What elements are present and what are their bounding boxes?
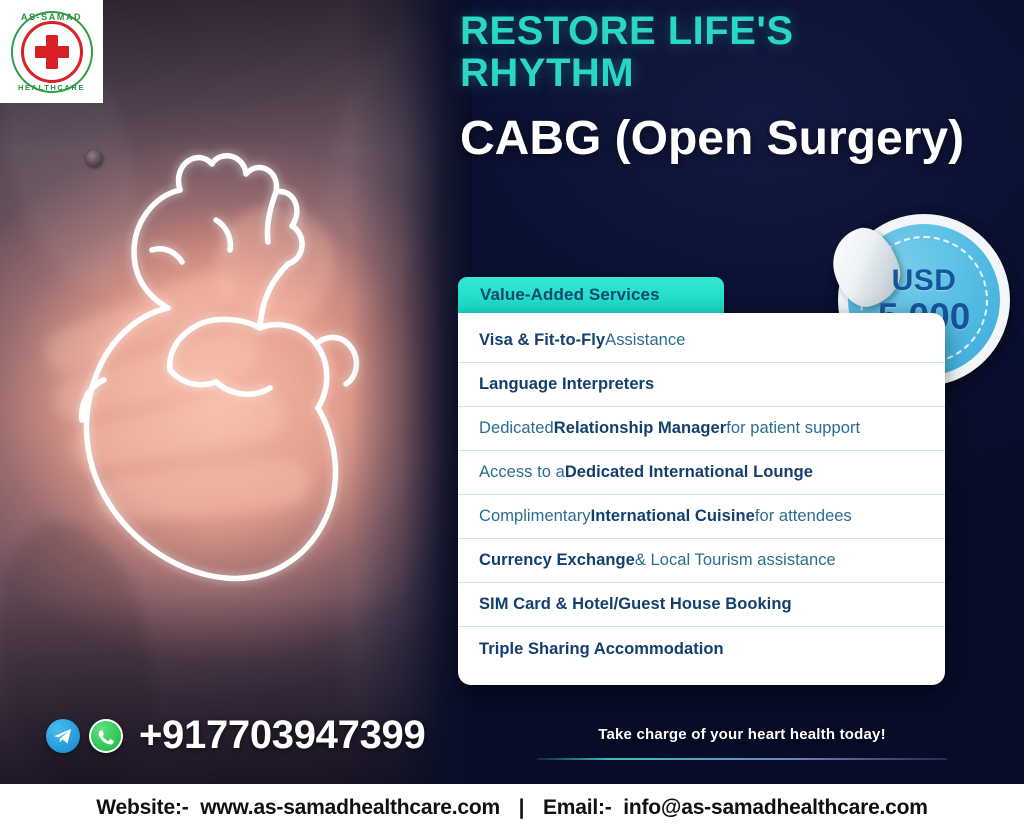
services-list: Visa & Fit-to-Fly AssistanceLanguage Int… <box>458 319 945 671</box>
service-text-emphasis: Dedicated International Lounge <box>565 463 813 482</box>
service-list-item: Currency Exchange & Local Tourism assist… <box>458 539 945 583</box>
footer-separator: | <box>519 796 525 819</box>
service-text-emphasis: Language Interpreters <box>479 375 654 394</box>
phone-number[interactable]: +917703947399 <box>139 713 425 758</box>
service-list-item: Visa & Fit-to-Fly Assistance <box>458 319 945 363</box>
photo-edge-fade <box>350 0 472 784</box>
service-text-emphasis: Relationship Manager <box>554 419 726 438</box>
service-list-item: Dedicated Relationship Manager for patie… <box>458 407 945 451</box>
service-text-lead: Complimentary <box>479 507 591 526</box>
logo-mark: AS-SAMAD HEALTHCARE <box>8 8 96 96</box>
logo-top-text: AS-SAMAD <box>8 12 96 22</box>
hero-photo <box>0 0 472 784</box>
brand-logo: AS-SAMAD HEALTHCARE <box>0 0 103 103</box>
service-text-emphasis: Currency Exchange <box>479 551 635 570</box>
services-card-body: Visa & Fit-to-Fly AssistanceLanguage Int… <box>458 313 945 685</box>
logo-bottom-text: HEALTHCARE <box>8 83 96 92</box>
service-text-emphasis: Visa & Fit-to-Fly <box>479 331 605 350</box>
service-text-emphasis: Triple Sharing Accommodation <box>479 640 724 659</box>
footer-website-label: Website:- <box>96 796 188 819</box>
footer-email-label: Email:- <box>543 796 612 819</box>
headline-kicker-line2: RHYTHM <box>460 52 1020 94</box>
tagline-block: Take charge of your heart health today! <box>537 726 947 760</box>
services-card-title: Value-Added Services <box>480 285 660 305</box>
service-text-tail: for patient support <box>726 419 860 438</box>
service-text-emphasis: SIM Card & Hotel/Guest House Booking <box>479 595 792 614</box>
service-text-lead: Access to a <box>479 463 565 482</box>
footer-text: Website:- www.as-samadhealthcare.com | E… <box>96 796 928 820</box>
service-text-emphasis: International Cuisine <box>591 507 755 526</box>
footer-bar: Website:- www.as-samadhealthcare.com | E… <box>0 784 1024 831</box>
headline-main: CABG (Open Surgery) <box>460 114 1020 164</box>
service-list-item: Access to a Dedicated International Loun… <box>458 451 945 495</box>
service-list-item: Complimentary International Cuisine for … <box>458 495 945 539</box>
whatsapp-icon[interactable] <box>89 719 123 753</box>
services-card-tab: Value-Added Services <box>458 277 724 313</box>
telegram-icon[interactable] <box>46 719 80 753</box>
red-cross-icon-bar <box>35 46 69 58</box>
headline-kicker-line1: RESTORE LIFE'S <box>460 10 1020 52</box>
footer-email[interactable]: info@as-samadhealthcare.com <box>623 796 928 819</box>
headline-block: RESTORE LIFE'S RHYTHM CABG (Open Surgery… <box>460 10 1020 164</box>
tagline-text: Take charge of your heart health today! <box>537 726 947 743</box>
service-text-tail: Assistance <box>605 331 685 350</box>
badge-currency: USD <box>892 266 957 296</box>
service-list-item: Language Interpreters <box>458 363 945 407</box>
footer-website[interactable]: www.as-samadhealthcare.com <box>200 796 500 819</box>
tagline-divider <box>537 758 947 760</box>
service-list-item: Triple Sharing Accommodation <box>458 627 945 671</box>
poster-canvas: AS-SAMAD HEALTHCARE RESTORE LIFE'S RHYTH… <box>0 0 1024 831</box>
service-text-tail: for attendees <box>755 507 852 526</box>
contact-row: +917703947399 <box>46 713 425 758</box>
service-list-item: SIM Card & Hotel/Guest House Booking <box>458 583 945 627</box>
headline-kicker: RESTORE LIFE'S RHYTHM <box>460 10 1020 95</box>
service-text-tail: & Local Tourism assistance <box>635 551 836 570</box>
service-text-lead: Dedicated <box>479 419 554 438</box>
